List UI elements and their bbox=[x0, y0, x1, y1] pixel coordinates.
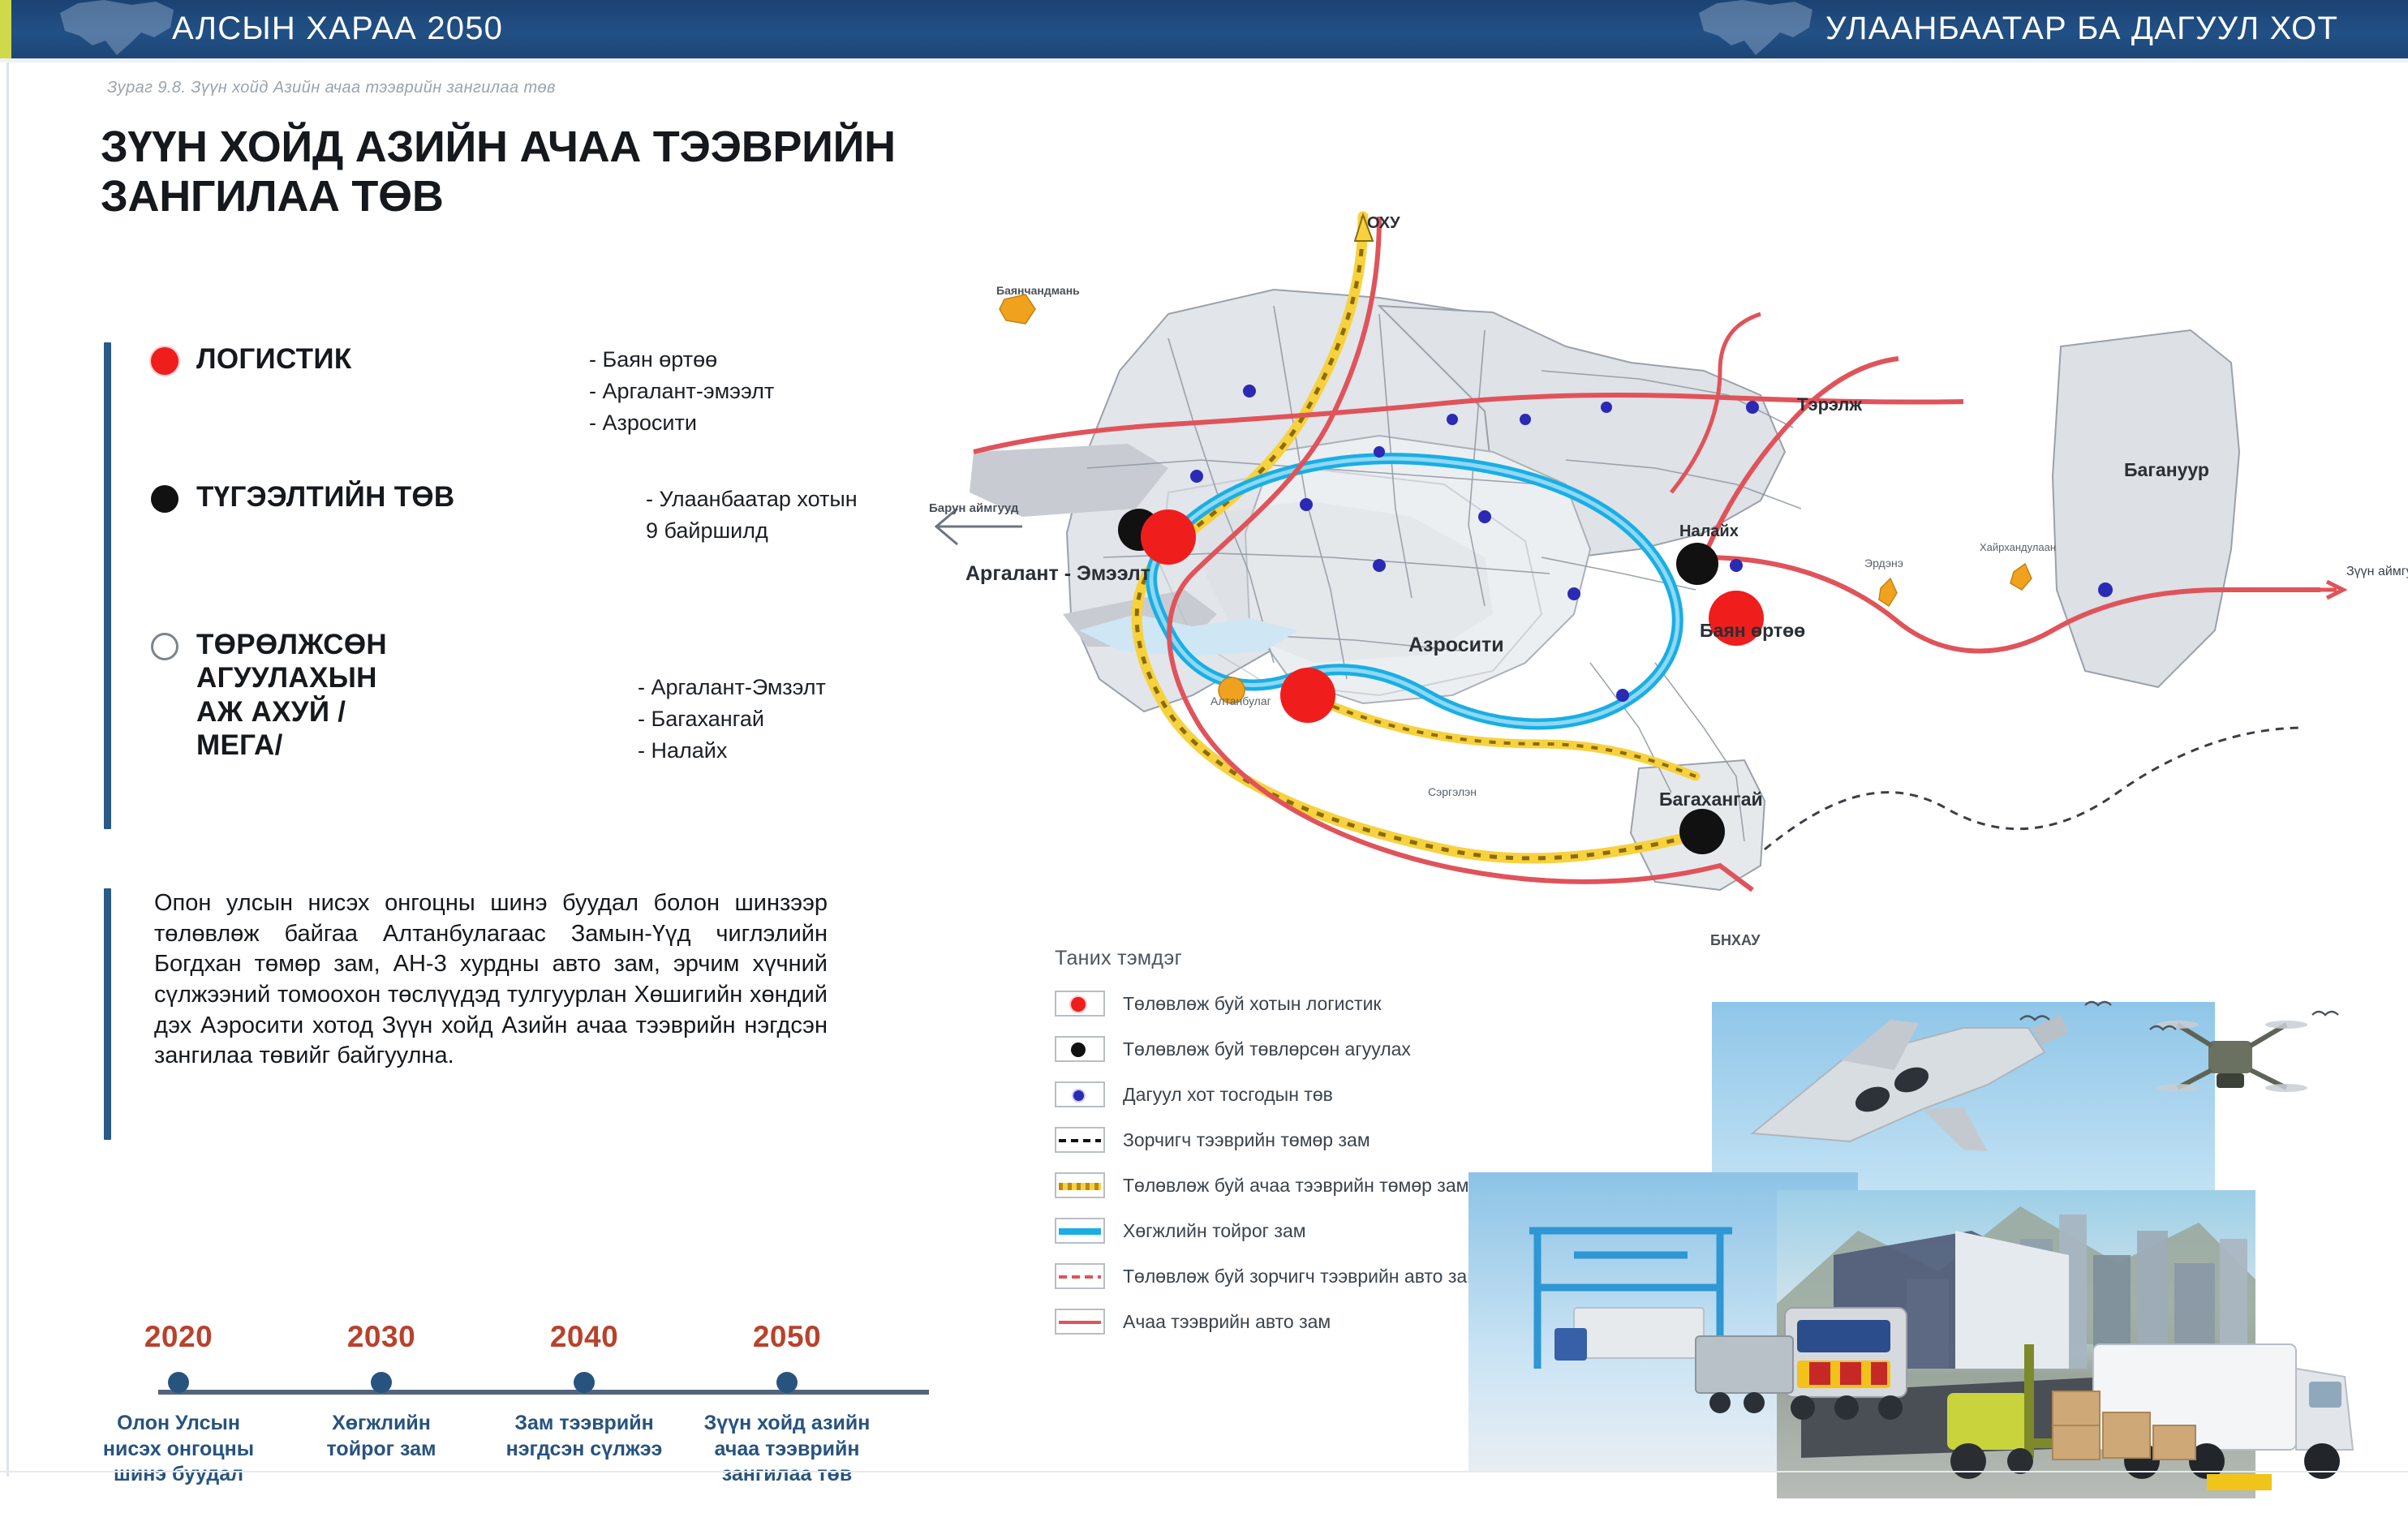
app-header: АЛСЫН ХАРАА 2050 УЛААНБААТАР БА ДАГУУЛ Х… bbox=[0, 0, 2408, 58]
timeline-label: Зам тээврийн нэгдсэн сүлжээ bbox=[483, 1411, 686, 1462]
header-right-title: УЛААНБААТАР БА ДАГУУЛ ХОТ bbox=[1825, 11, 2338, 47]
legend-item-sublist: - Улаанбаатар хотын 9 байршилд bbox=[646, 484, 858, 547]
svg-text:Налайх: Налайх bbox=[1679, 522, 1739, 540]
truck-cab bbox=[1554, 1328, 1587, 1361]
timeline-year: 2020 bbox=[77, 1320, 280, 1354]
photo-collage bbox=[1452, 987, 2408, 1539]
map-landmass bbox=[970, 290, 2239, 890]
legend-sub-item: - Улаанбаатар хотын bbox=[646, 487, 858, 511]
svg-text:ОХУ: ОХУ bbox=[1367, 214, 1400, 232]
legend-sub-item: - Аргалант-Эмзэлт bbox=[638, 675, 826, 699]
legend-item-sublist: - Аргалант-Эмзэлт - Багахангай - Налайх bbox=[638, 672, 826, 767]
svg-text:Сэргэлэн: Сэргэлэн bbox=[1428, 785, 1477, 798]
collage-artwork bbox=[1452, 987, 2408, 1539]
legend-item-sublist: - Баян өртөө - Аргалант-эмээлт - Азросит… bbox=[589, 344, 774, 439]
svg-text:БНХАУ: БНХАУ bbox=[1710, 932, 1761, 948]
page-left-rule bbox=[6, 62, 9, 1477]
airplane-graphic bbox=[1752, 1015, 2069, 1151]
logistics-marker[interactable] bbox=[1280, 668, 1335, 723]
timeline-year: 2030 bbox=[280, 1320, 483, 1354]
legend-accent-bar bbox=[104, 342, 111, 829]
svg-text:Зүүн аймгууд: Зүүн аймгууд bbox=[2346, 565, 2408, 578]
timeline-step-2050[interactable]: 2050 Зүүн хойд азийн ачаа тээврийн занги… bbox=[686, 1320, 888, 1488]
map-legend-label: Зорчигч тээврийн төмөр зам bbox=[1123, 1129, 1370, 1151]
legend-sub-item: - Азросити bbox=[589, 411, 697, 435]
legend-item-heading: ЛОГИСТИК bbox=[196, 342, 351, 376]
timeline-step-2030[interactable]: 2030 Хөгжлийн тойрог зам bbox=[280, 1320, 483, 1462]
timeline-dot-icon bbox=[776, 1372, 798, 1393]
black-circle-icon bbox=[151, 485, 178, 513]
header-left-title: АЛСЫН ХАРАА 2050 bbox=[172, 11, 503, 47]
legend-sub-item: - Аргалант-эмээлт bbox=[589, 379, 774, 403]
paragraph-accent-bar bbox=[104, 888, 111, 1140]
map-legend-label: Төлөвлөж буй төвлөрсөн агуулах bbox=[1123, 1038, 1411, 1060]
map-legend-label: Ачаа тээврийн авто зам bbox=[1123, 1311, 1331, 1333]
page-bottom-rule bbox=[0, 1471, 2408, 1472]
mongolia-map-icon-left bbox=[57, 0, 178, 58]
timeline-year: 2050 bbox=[686, 1320, 888, 1354]
map-legend-label: Дагуул хот тосгодын төв bbox=[1123, 1084, 1333, 1106]
timeline-step-2020[interactable]: 2020 Олон Улсын нисэх онгоцны шинэ бууда… bbox=[77, 1320, 280, 1488]
red-line-symbol-icon bbox=[1055, 1309, 1105, 1335]
warehouse-wall bbox=[1955, 1231, 2069, 1369]
slide-body: Зураг 9.8. Зүүн хойд Азийн ачаа тээврийн… bbox=[0, 62, 2408, 1477]
svg-text:Баян өртөө: Баян өртөө bbox=[1700, 620, 1805, 641]
red-dashed-line-symbol-icon bbox=[1055, 1263, 1105, 1289]
svg-text:Азросити: Азросити bbox=[1408, 634, 1504, 656]
milestone-timeline: 2020 Олон Улсын нисэх онгоцны шинэ бууда… bbox=[122, 1320, 1014, 1523]
hollow-circle-icon bbox=[151, 633, 178, 660]
map-legend-label: Төлөвлөж буй хотын логистик bbox=[1123, 993, 1381, 1015]
black-dot-symbol-icon bbox=[1055, 1036, 1105, 1062]
yellow-dashed-line-symbol-icon bbox=[1055, 1172, 1105, 1198]
svg-text:Багануур: Багануур bbox=[2124, 459, 2209, 480]
map-legend-title: Таних тэмдэг bbox=[1055, 947, 1182, 970]
red-circle-icon bbox=[151, 347, 178, 375]
pallet-jack bbox=[2207, 1474, 2272, 1490]
description-text: Опон улсын нисэх онгоцны шинэ буудал бол… bbox=[154, 888, 828, 1072]
map-legend-label: Хөгжлийн тойрог зам bbox=[1123, 1220, 1306, 1242]
svg-text:Эрдэнэ: Эрдэнэ bbox=[1864, 557, 1903, 570]
logistics-marker[interactable] bbox=[1141, 509, 1196, 565]
drone-graphic bbox=[2156, 1021, 2307, 1092]
timeline-label: Зүүн хойд азийн ачаа тээврийн зангилаа т… bbox=[686, 1411, 888, 1488]
timeline-year: 2040 bbox=[483, 1320, 686, 1354]
timeline-label: Олон Улсын нисэх онгоцны шинэ буудал bbox=[77, 1411, 280, 1488]
figure-caption: Зураг 9.8. Зүүн хойд Азийн ачаа тээврийн… bbox=[107, 79, 556, 97]
passenger-rail-line bbox=[1765, 728, 2304, 849]
distribution-marker[interactable] bbox=[1679, 809, 1725, 854]
timeline-dot-icon bbox=[371, 1372, 392, 1393]
legend-item-heading: ТӨРӨЛЖСӨН АГУУЛАХЫН АЖ АХУЙ /МЕГА/ bbox=[196, 628, 387, 762]
svg-text:Барун аймгууд: Барун аймгууд bbox=[929, 501, 1019, 515]
black-dashed-line-symbol-icon bbox=[1055, 1127, 1105, 1153]
legend-item-heading: ТҮГЭЭЛТИЙН ТӨВ bbox=[196, 480, 454, 514]
svg-text:Аргалант - Эмээлт: Аргалант - Эмээлт bbox=[965, 562, 1150, 585]
svg-text:Хайрхандулаан: Хайрхандулаан bbox=[1980, 541, 2056, 553]
svg-text:Баянчандмань: Баянчандмань bbox=[996, 284, 1080, 297]
category-legend: ЛОГИСТИК - Баян өртөө - Аргалант-эмээлт … bbox=[104, 342, 964, 829]
timeline-label: Хөгжлийн тойрог зам bbox=[280, 1411, 483, 1462]
legend-sub-item: - Баян өртөө bbox=[589, 347, 717, 372]
red-dot-symbol-icon bbox=[1055, 991, 1105, 1017]
header-accent-stripe bbox=[0, 0, 11, 58]
cyan-line-symbol-icon bbox=[1055, 1218, 1105, 1244]
blue-dot-symbol-icon bbox=[1055, 1081, 1105, 1107]
page-title: ЗҮҮН ХОЙД АЗИЙН АЧАА ТЭЭВРИЙН ЗАНГИЛАА Т… bbox=[101, 123, 1009, 221]
shipping-container bbox=[1574, 1308, 1704, 1358]
mongolia-map-icon-right bbox=[1696, 0, 1817, 58]
svg-text:Алтанбулаг: Алтанбулаг bbox=[1210, 694, 1271, 707]
map-legend-label: Төлөвлөж буй ачаа тээврийн төмөр зам bbox=[1123, 1175, 1468, 1197]
distribution-marker[interactable] bbox=[1676, 543, 1718, 585]
timeline-dot-icon bbox=[574, 1372, 595, 1393]
legend-sub-item: - Налайх bbox=[638, 738, 727, 763]
legend-sub-item: 9 байршилд bbox=[646, 518, 768, 543]
timeline-dot-icon bbox=[168, 1372, 189, 1393]
timeline-step-2040[interactable]: 2040 Зам тээврийн нэгдсэн сүлжээ bbox=[483, 1320, 686, 1462]
legend-sub-item: - Багахангай bbox=[638, 707, 764, 731]
map-legend-label: Төлөвлөж буй зорчигч тээврийн авто зам bbox=[1123, 1266, 1480, 1288]
svg-text:Багахангай: Багахангай bbox=[1659, 789, 1763, 810]
svg-text:Тэрэлж: Тэрэлж bbox=[1797, 394, 1862, 415]
